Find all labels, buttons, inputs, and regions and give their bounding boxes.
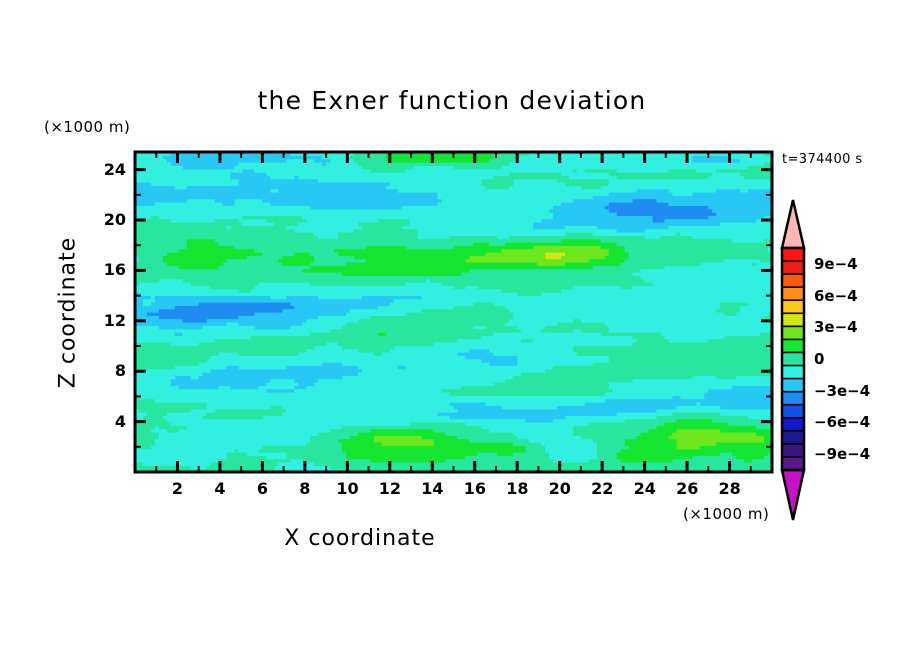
x-tick-label: 10 (336, 479, 358, 498)
y-tick-label: 12 (96, 311, 126, 330)
colorbar-tick-label: 3e−4 (814, 318, 858, 336)
x-tick-label: 4 (209, 479, 231, 498)
contour-field (135, 152, 773, 473)
colorbar-tick-label: 6e−4 (814, 287, 858, 305)
y-tick-label: 16 (96, 260, 126, 279)
y-tick-label: 4 (96, 412, 126, 431)
colorbar-tick-label: −3e−4 (814, 382, 870, 400)
colorbar-tick-label: −6e−4 (814, 413, 870, 431)
x-tick-label: 12 (379, 479, 401, 498)
x-tick-label: 28 (719, 479, 741, 498)
x-tick-label: 20 (549, 479, 571, 498)
x-tick-label: 14 (421, 479, 443, 498)
colorbar-tick-label: 9e−4 (814, 255, 858, 273)
x-tick-label: 8 (294, 479, 316, 498)
x-tick-label: 16 (464, 479, 486, 498)
colorbar (782, 200, 804, 520)
y-tick-label: 24 (96, 160, 126, 179)
y-tick-label: 20 (96, 210, 126, 229)
x-tick-label: 26 (676, 479, 698, 498)
x-tick-label: 24 (634, 479, 656, 498)
x-tick-label: 22 (591, 479, 613, 498)
contour-plot-area (0, 0, 904, 654)
x-tick-label: 18 (506, 479, 528, 498)
x-tick-label: 2 (166, 479, 188, 498)
colorbar-tick-label: −9e−4 (814, 445, 870, 463)
y-tick-label: 8 (96, 361, 126, 380)
x-tick-label: 6 (251, 479, 273, 498)
figure-canvas: the Exner function deviation (×1000 m) (… (0, 0, 904, 654)
colorbar-tick-label: 0 (814, 350, 824, 368)
